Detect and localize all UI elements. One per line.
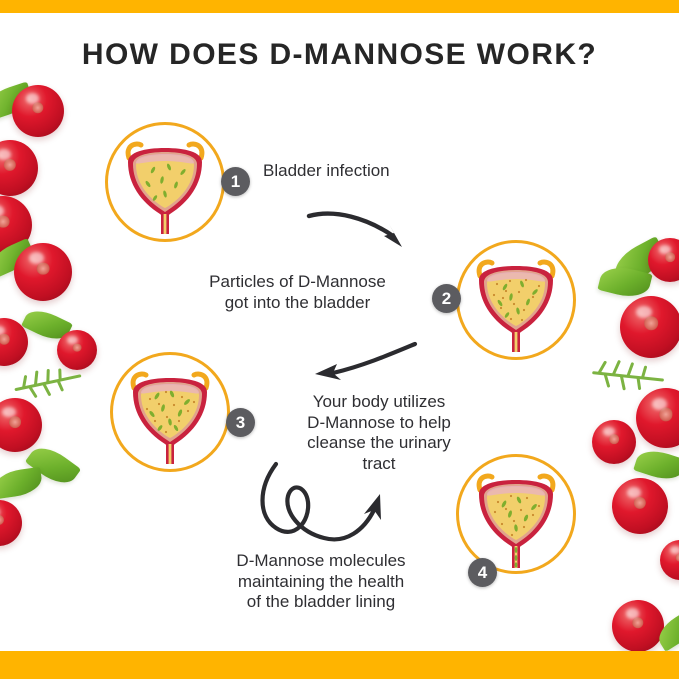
caption-line: D-Mannose molecules (196, 551, 446, 572)
cranberry-icon (0, 500, 22, 546)
caption-line: D-Mannose to help (274, 413, 484, 434)
cranberry-icon (612, 478, 668, 534)
step-1-diagram: 1 (105, 122, 225, 242)
bottom-brand-bar (0, 651, 679, 679)
arrow-step3-to-step4 (252, 458, 412, 558)
step-4-caption: D-Mannose molecules maintaining the heal… (196, 551, 446, 613)
caption-line: Bladder infection (263, 161, 493, 182)
cranberry-icon (592, 420, 636, 464)
infographic-canvas: HOW DOES D-MANNOSE WORK? 1 (0, 0, 679, 679)
cranberry-icon (12, 85, 64, 137)
arrow-step2-to-step3 (305, 342, 425, 398)
cranberry-icon (648, 238, 679, 282)
caption-line: of the bladder lining (196, 592, 446, 613)
cranberry-icon (0, 398, 42, 452)
cranberry-icon (636, 388, 679, 448)
step-1-caption: Bladder infection (263, 161, 493, 182)
caption-line: cleanse the urinary (274, 433, 484, 454)
caption-line: Your body utilizes (274, 392, 484, 413)
cranberry-icon (620, 296, 679, 358)
bladder-illustration (456, 240, 576, 360)
step-4-diagram: 4 (456, 454, 576, 574)
caption-line: maintaining the health (196, 572, 446, 593)
step-2-diagram: 2 (456, 240, 576, 360)
bladder-illustration (456, 454, 576, 574)
cranberry-icon (14, 243, 72, 301)
step-1-badge: 1 (221, 167, 250, 196)
page-title: HOW DOES D-MANNOSE WORK? (0, 38, 679, 72)
step-2-badge: 2 (432, 284, 461, 313)
caption-line: got into the bladder (175, 293, 420, 314)
step-3-badge: 3 (226, 408, 255, 437)
cranberry-icon (0, 140, 38, 196)
step-4-badge: 4 (468, 558, 497, 587)
caption-line: Particles of D-Mannose (175, 272, 420, 293)
cranberry-icon (612, 600, 664, 652)
arrow-step1-to-step2 (305, 200, 425, 260)
step-2-caption: Particles of D-Mannose got into the blad… (175, 272, 420, 313)
bladder-illustration (105, 122, 225, 242)
bladder-illustration (110, 352, 230, 472)
step-3-diagram: 3 (110, 352, 230, 472)
cranberry-icon (660, 540, 679, 580)
leaf-icon (0, 467, 44, 499)
top-brand-bar (0, 0, 679, 13)
